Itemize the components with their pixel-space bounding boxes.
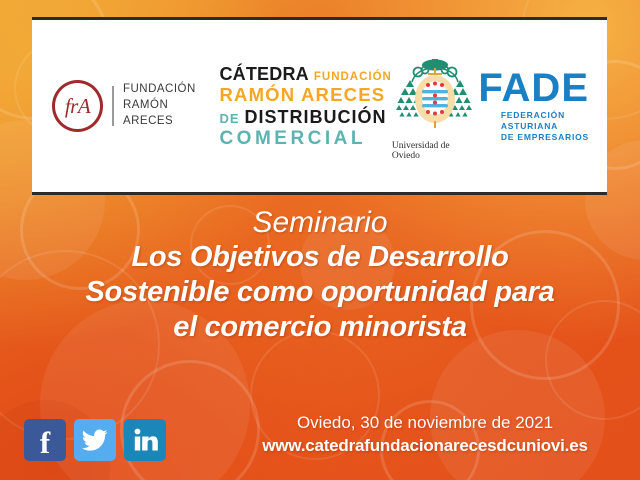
seminar-kicker: Seminario	[0, 206, 640, 240]
fra-monogram-icon: frA	[52, 80, 103, 132]
catedra-fundacion-word: FUNDACIÓN	[314, 72, 392, 84]
catedra-word: CÁTEDRA	[219, 65, 308, 83]
poster-titles: Seminario Los Objetivos de Desarrollo So…	[0, 206, 640, 346]
logo-fundacion-ramon-areces: frA FUNDACIÓN RAMÓN ARECES	[52, 80, 219, 132]
catedra-distribucion-word: DISTRIBUCIÓN	[245, 108, 387, 126]
facebook-icon[interactable]: f	[24, 419, 66, 461]
seminar-title-line2: Sostenible como oportunidad para	[0, 275, 640, 310]
footer-info: Oviedo, 30 de noviembre de 2021 www.cate…	[230, 412, 620, 458]
seminar-title-line3: el comercio minorista	[0, 310, 640, 345]
uniovi-caption: Universidad de Oviedo	[392, 141, 478, 161]
fade-subtitle-line1: FEDERACIÓN	[501, 110, 589, 121]
event-place-date: Oviedo, 30 de noviembre de 2021	[230, 412, 620, 435]
sponsor-logo-panel: frA FUNDACIÓN RAMÓN ARECES CÁTEDRA FUNDA…	[32, 17, 607, 195]
twitter-icon[interactable]	[74, 419, 116, 461]
logo-fade: FADE FEDERACIÓN ASTURIANA DE EMPRESARIOS	[478, 69, 589, 143]
logo-universidad-de-oviedo: Universidad de Oviedo	[392, 52, 478, 161]
fra-wordmark: FUNDACIÓN RAMÓN ARECES	[123, 82, 220, 130]
linkedin-icon[interactable]	[124, 419, 166, 461]
social-links: f	[24, 419, 166, 461]
twitter-bird-glyph	[82, 429, 108, 451]
catedra-ramon-areces-word: RAMÓN ARECES	[219, 86, 391, 105]
linkedin-glyph	[132, 427, 158, 453]
logo-catedra-distribucion-comercial: CÁTEDRA FUNDACIÓN RAMÓN ARECES DE DISTRI…	[219, 65, 391, 148]
catedra-comercial-word: COMERCIAL	[219, 129, 391, 148]
fade-wordmark: FADE	[478, 69, 589, 107]
fade-subtitle-line3: DE EMPRESARIOS	[501, 132, 589, 143]
fra-wordmark-line1: FUNDACIÓN	[123, 82, 220, 98]
divider	[112, 86, 114, 126]
fade-subtitle: FEDERACIÓN ASTURIANA DE EMPRESARIOS	[501, 110, 589, 143]
event-website: www.catedrafundacionarecesdcuniovi.es	[230, 435, 620, 458]
facebook-glyph: f	[40, 427, 50, 458]
uniovi-crest-icon	[392, 52, 478, 139]
fade-subtitle-line2: ASTURIANA	[501, 121, 589, 132]
fra-wordmark-line2: RAMÓN ARECES	[123, 98, 220, 130]
seminar-title-line1: Los Objetivos de Desarrollo	[0, 240, 640, 275]
catedra-de-word: DE	[219, 112, 239, 125]
